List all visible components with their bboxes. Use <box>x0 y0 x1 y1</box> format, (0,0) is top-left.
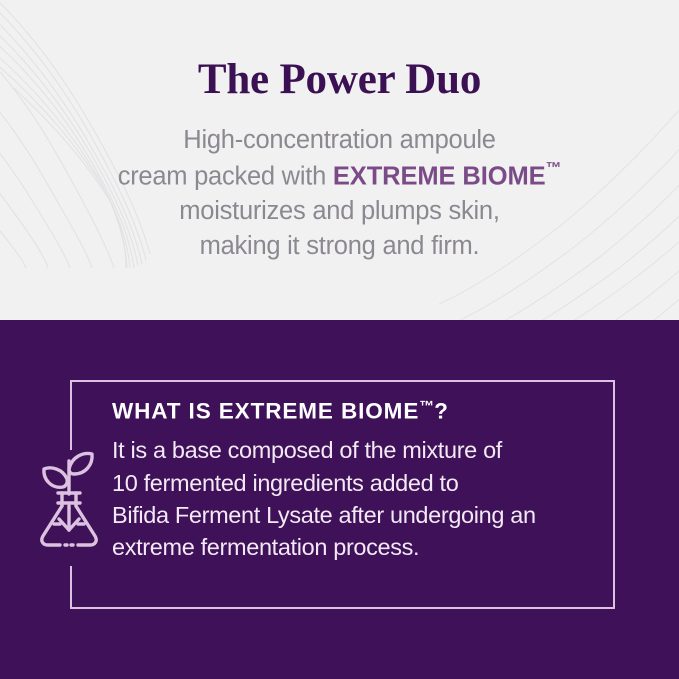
info-box-border-right <box>613 380 615 609</box>
subtitle-text: moisturizes and plumps skin, <box>179 197 499 225</box>
marketing-infographic: The Power Duo High-concentration ampoule… <box>0 0 679 679</box>
info-box-body-line: It is a base composed of the mixture of <box>112 434 601 466</box>
info-box-heading: WHAT IS EXTREME BIOME™? <box>112 399 601 424</box>
subtitle-line-4: making it strong and firm. <box>118 229 562 264</box>
trademark-symbol: ™ <box>546 160 562 177</box>
info-box-border-top <box>70 380 615 382</box>
hero-subtitle: High-concentration ampoule cream packed … <box>118 123 562 264</box>
subtitle-text: making it strong and firm. <box>200 232 480 260</box>
flask-sprout-icon <box>34 446 104 551</box>
extreme-biome-explainer-section: WHAT IS EXTREME BIOME™? It is a base com… <box>0 320 679 679</box>
info-box: WHAT IS EXTREME BIOME™? It is a base com… <box>70 380 615 609</box>
brand-name-extreme-biome: EXTREME BIOME <box>333 162 546 190</box>
info-box-content: WHAT IS EXTREME BIOME™? It is a base com… <box>112 399 601 564</box>
info-box-border-bottom <box>70 607 615 609</box>
trademark-symbol: ™ <box>419 399 434 415</box>
subtitle-line-3: moisturizes and plumps skin, <box>118 194 562 229</box>
page-title: The Power Duo <box>198 58 481 101</box>
hero-section: The Power Duo High-concentration ampoule… <box>0 0 679 320</box>
info-box-border-left-upper <box>70 380 72 450</box>
info-box-border-left-lower <box>70 566 72 609</box>
info-box-body-line: Bifida Ferment Lysate after undergoing a… <box>112 499 601 531</box>
info-box-body: It is a base composed of the mixture of … <box>112 434 601 564</box>
info-box-body-line: 10 fermented ingredients added to <box>112 467 601 499</box>
info-box-heading-suffix: ? <box>434 398 449 423</box>
subtitle-text: cream packed with <box>118 162 333 190</box>
subtitle-text: High-concentration ampoule <box>183 126 495 154</box>
info-box-body-line: extreme fermentation process. <box>112 531 601 563</box>
subtitle-line-2: cream packed with EXTREME BIOME™ <box>118 158 562 194</box>
info-box-heading-text: WHAT IS EXTREME BIOME <box>112 398 419 423</box>
subtitle-line-1: High-concentration ampoule <box>118 123 562 158</box>
